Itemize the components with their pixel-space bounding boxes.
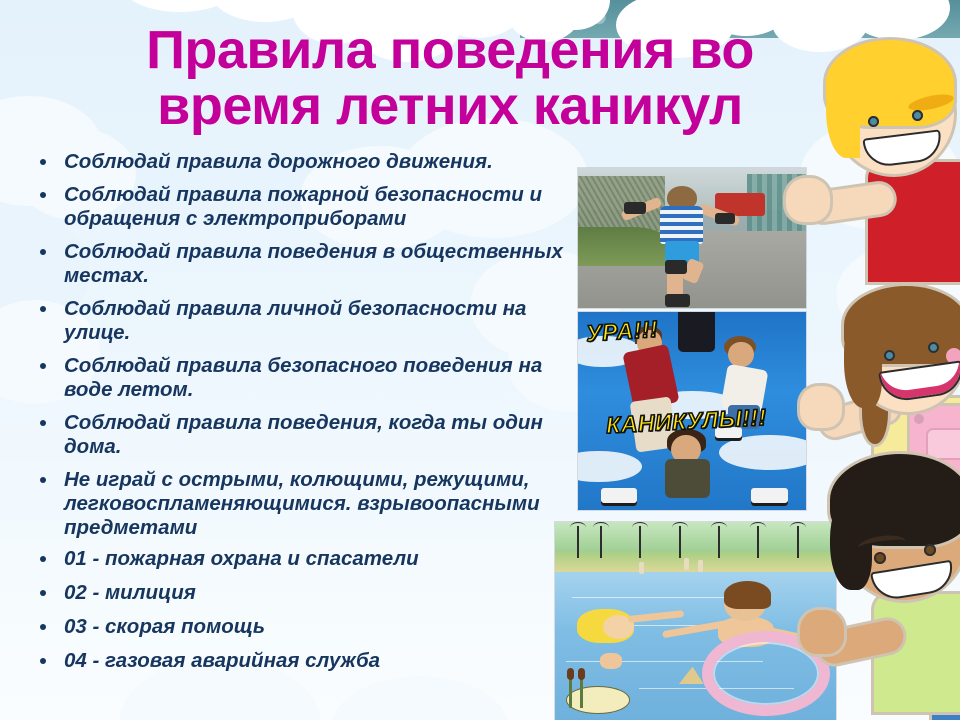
illus-distant-person <box>698 560 703 572</box>
blonde-boy-hair-side <box>826 78 860 158</box>
photo-skater-rollerblade <box>665 294 690 307</box>
photo-shoe-1 <box>601 488 637 506</box>
slide-title: Правила поведения во время летних канику… <box>70 22 830 134</box>
photo-grass <box>578 227 669 266</box>
photo-cloud-4 <box>578 451 642 483</box>
girl-eye-right <box>928 342 939 353</box>
illus-tree <box>797 526 799 558</box>
list-item: Соблюдай правила пожарной безопасности и… <box>26 183 571 231</box>
slide-title-line-1: Правила поведения во <box>70 22 830 78</box>
cloud-top-10 <box>210 0 320 22</box>
illus-boy-hair <box>724 581 772 609</box>
cloud-top-11 <box>120 0 240 12</box>
slide-canvas: Правила поведения во время летних канику… <box>0 0 960 720</box>
cloud-top-9 <box>846 0 950 40</box>
kids-swimming-illustration <box>555 522 836 720</box>
list-item-emergency-01: 01 - пожарная охрана и спасатели <box>26 547 571 571</box>
girl-overalls-button <box>914 414 924 424</box>
blonde-boy-eye-right <box>912 110 923 121</box>
illus-tree <box>639 526 641 558</box>
illus-reed <box>580 676 583 708</box>
photo-skater-elbow-pad <box>624 202 647 215</box>
jumping-kids-photo: УРА!!! КАНИКУЛЫ!!! <box>578 312 806 510</box>
dark-boy-shirt <box>874 594 960 712</box>
list-item: Не играй с острыми, колющими, режущими, … <box>26 468 571 540</box>
illus-tree <box>600 526 602 558</box>
list-item-emergency-02: 02 - милиция <box>26 581 571 605</box>
illus-ripple <box>572 597 741 598</box>
girl-eye-left <box>884 350 895 361</box>
rules-list: Соблюдай правила дорожного движения. Соб… <box>26 150 571 683</box>
illus-lily-pad <box>566 686 630 714</box>
slide-title-line-2: время летних каникул <box>70 78 830 134</box>
illus-tree <box>679 526 681 558</box>
girl-hair-side <box>844 316 882 408</box>
list-item: Соблюдай правила дорожного движения. <box>26 150 571 174</box>
girl-hand <box>800 386 842 428</box>
photo-jumper3-shirt <box>665 459 711 499</box>
illus-tree <box>577 526 579 558</box>
photo-jumper-dark-legs <box>678 312 714 352</box>
overlay-text-ura: УРА!!! <box>585 316 659 348</box>
dark-boy-hand <box>800 610 844 654</box>
photo-skater-knee-pad <box>665 260 688 274</box>
list-item: Соблюдай правила поведения в общественны… <box>26 240 571 288</box>
illus-distant-person <box>639 562 644 574</box>
list-item-emergency-03: 03 - скорая помощь <box>26 615 571 639</box>
dark-boy-eye-right <box>924 544 936 556</box>
illus-raised-hand <box>600 653 622 669</box>
blonde-boy-hand <box>786 178 830 222</box>
photo-shoe-2 <box>751 488 787 506</box>
photo-skater-wrist-guard <box>715 213 736 224</box>
illus-reed <box>569 676 572 708</box>
illus-tree <box>718 526 720 558</box>
list-item: Соблюдай правила безопасного поведения н… <box>26 354 571 402</box>
blonde-boy-eye-left <box>868 116 879 127</box>
teal-band-left <box>300 0 540 20</box>
blonde-boy-character <box>812 38 960 288</box>
boy-rollerblading-photo <box>578 168 806 308</box>
list-item-emergency-04: 04 - газовая аварийная служба <box>26 649 571 673</box>
illus-tree <box>757 526 759 558</box>
dark-hair-boy-character <box>812 448 960 720</box>
dark-boy-eye-left <box>874 552 886 564</box>
blonde-boy-shirt <box>868 162 960 282</box>
illus-distant-person <box>684 558 689 570</box>
photo-skater-shirt <box>660 206 703 244</box>
list-item: Соблюдай правила личной безопасности на … <box>26 297 571 345</box>
list-item: Соблюдай правила поведения, когда ты оди… <box>26 411 571 459</box>
